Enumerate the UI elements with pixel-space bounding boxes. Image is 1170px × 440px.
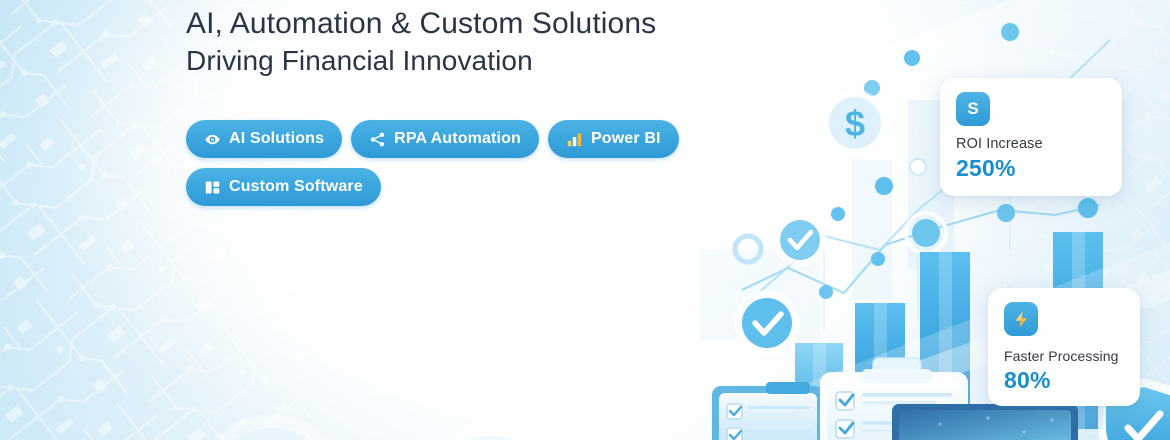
- stat-card-label: Faster Processing: [1004, 348, 1124, 364]
- bottom-badge-left: [194, 414, 350, 440]
- lightning-bolt-icon: [1004, 302, 1038, 336]
- hero-banner: $: [0, 0, 1170, 440]
- pill-label: RPA Automation: [394, 130, 521, 148]
- clipboard-checklist: [820, 358, 968, 440]
- layout-grid-icon: [204, 179, 221, 196]
- pill-label: Power BI: [591, 130, 661, 148]
- pill-ai-solutions[interactable]: AI Solutions: [186, 120, 342, 158]
- check-circle-badge-small: [773, 213, 827, 267]
- pill-label: AI Solutions: [229, 130, 324, 148]
- pill-power-bi[interactable]: Power BI: [548, 120, 679, 158]
- pill-custom-software[interactable]: Custom Software: [186, 168, 381, 206]
- clipboard-checklist-secondary: [712, 382, 824, 440]
- letter-s-icon: S: [956, 92, 990, 126]
- pill-label: Custom Software: [229, 178, 363, 196]
- headline-line-2: Driving Financial Innovation: [186, 43, 746, 79]
- laptop: [892, 404, 1078, 440]
- stat-card-faster-processing[interactable]: Faster Processing 80%: [988, 288, 1140, 406]
- dollar-circle-badge: $: [822, 90, 888, 156]
- svg-text:$: $: [845, 103, 865, 144]
- bottom-badge-center: [416, 422, 568, 440]
- stat-card-roi-increase[interactable]: S ROI Increase 250%: [940, 78, 1122, 196]
- check-circle-badge-large: [734, 290, 800, 356]
- stat-card-value: 80%: [1004, 367, 1124, 394]
- feature-pill-list: AI Solutions RPA Automation: [186, 120, 726, 206]
- hero-headline: AI, Automation & Custom Solutions Drivin…: [186, 4, 746, 79]
- stat-card-label: ROI Increase: [956, 136, 1106, 152]
- pill-rpa-automation[interactable]: RPA Automation: [351, 120, 539, 158]
- headline-line-1: AI, Automation & Custom Solutions: [186, 4, 746, 43]
- eye-icon: [204, 131, 221, 148]
- bar-chart-icon: [566, 131, 583, 148]
- stat-card-value: 250%: [956, 155, 1106, 182]
- share-nodes-icon: [369, 131, 386, 148]
